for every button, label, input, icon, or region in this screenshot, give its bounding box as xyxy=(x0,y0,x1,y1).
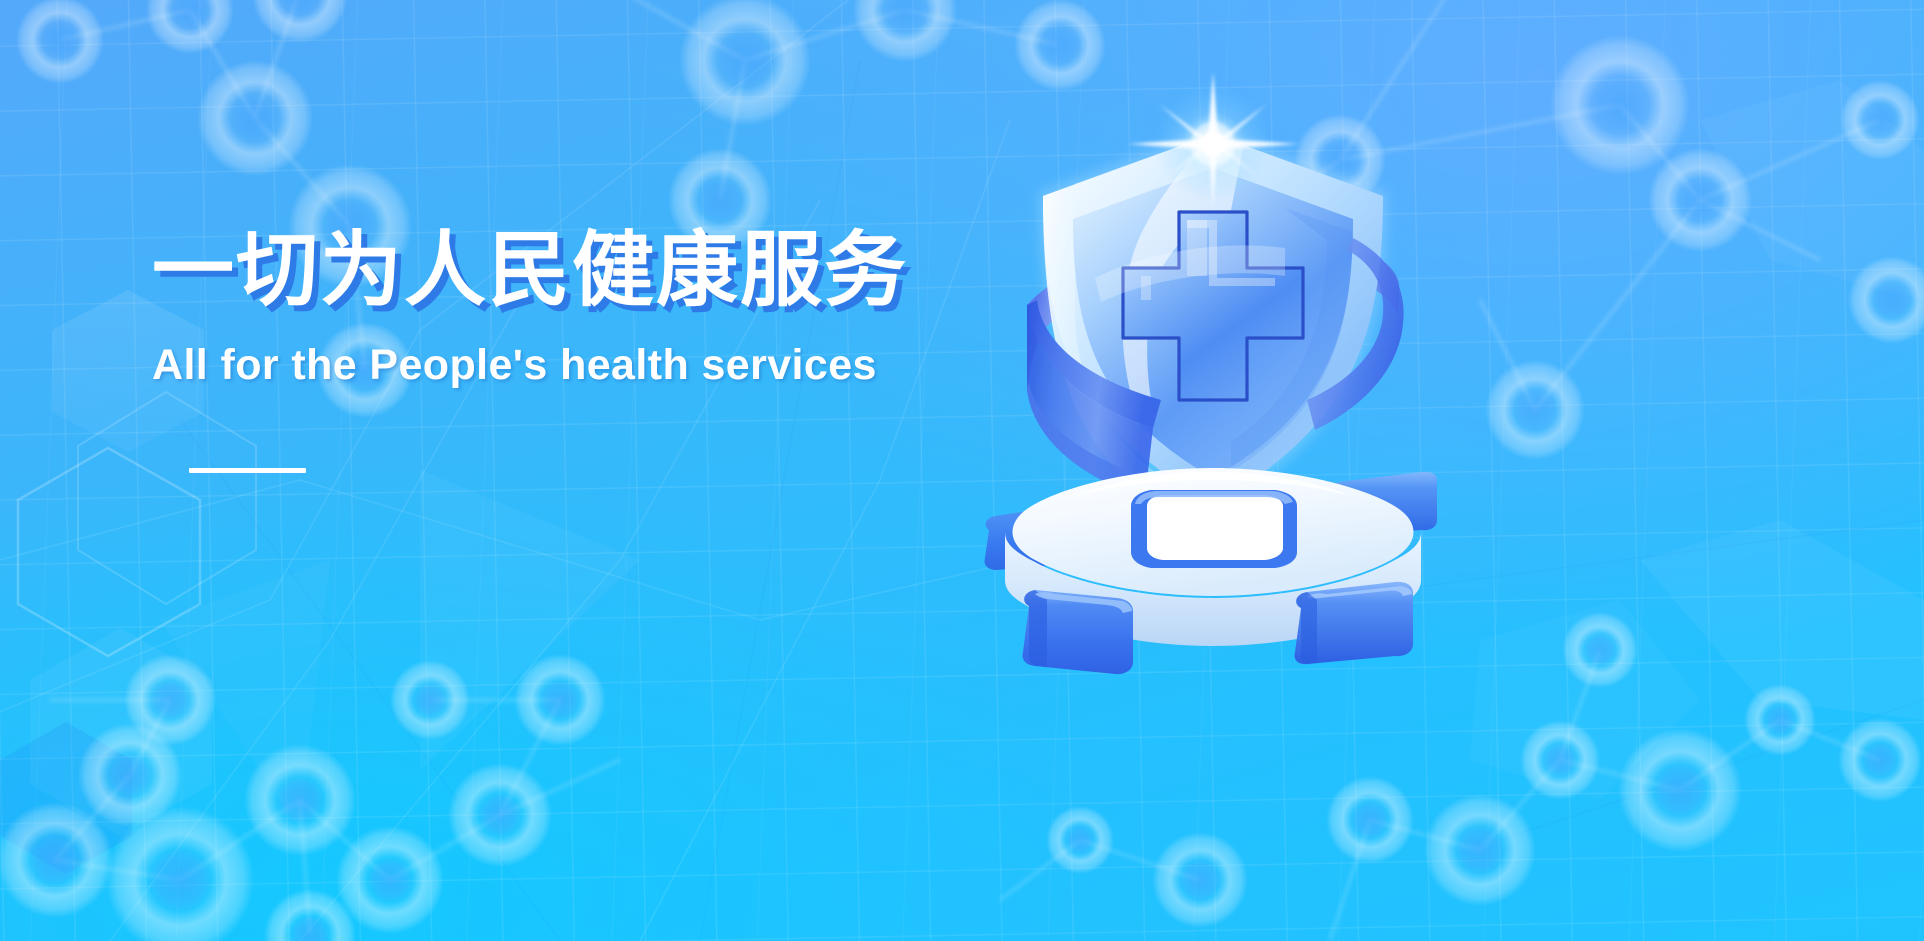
molecule-atom xyxy=(1485,360,1585,460)
molecule-atom xyxy=(1618,728,1742,852)
molecule-atom xyxy=(1152,832,1248,928)
molecule-atom xyxy=(448,763,552,867)
molecule-atom xyxy=(1550,35,1690,175)
molecule-atom xyxy=(197,60,313,176)
molecule-atom xyxy=(514,654,606,746)
hexagon-shape xyxy=(30,628,212,836)
hexagon-outline xyxy=(18,448,200,656)
hexagon-shape-dark xyxy=(0,722,132,874)
molecule-atom xyxy=(1014,0,1106,91)
molecule-atom xyxy=(336,826,444,934)
molecule-atom xyxy=(1848,256,1924,344)
polygon-shape xyxy=(1700,80,1924,300)
molecule-atom xyxy=(679,0,811,126)
health-banner: 一切为人民健康服务 All for the People's health se… xyxy=(0,0,1924,941)
molecule-atom xyxy=(1840,80,1920,160)
molecule-atom xyxy=(0,802,113,918)
molecule-atom xyxy=(146,0,234,54)
pedestal-inner-screen xyxy=(1147,495,1283,560)
molecule-atom xyxy=(1326,776,1414,864)
molecule-atom xyxy=(244,744,356,856)
molecule-atom xyxy=(853,0,957,62)
banner-headline: 一切为人民健康服务 xyxy=(152,228,1052,315)
triangle-shape xyxy=(160,560,330,830)
banner-subtitle: All for the People's health services xyxy=(152,341,1052,390)
triangle-shape xyxy=(420,470,640,770)
title-divider xyxy=(189,468,306,473)
medical-shield-illustration xyxy=(955,100,1475,680)
molecule-atom xyxy=(1838,718,1922,802)
molecule-atom xyxy=(1562,612,1638,688)
banner-text-block: 一切为人民健康服务 All for the People's health se… xyxy=(152,228,1052,473)
molecule-atom xyxy=(1046,806,1114,874)
molecule-atom xyxy=(1744,684,1816,756)
molecule-atom xyxy=(16,0,104,84)
molecule-atom xyxy=(264,889,356,941)
molecule-atom xyxy=(1520,720,1600,800)
molecule-atom xyxy=(1424,794,1536,906)
molecule-atom xyxy=(390,660,470,740)
molecule-atom xyxy=(1648,148,1752,252)
polygon-shape xyxy=(1640,520,1924,720)
molecule-atom xyxy=(252,0,348,43)
molecule-atom xyxy=(78,723,182,827)
polygon-shape xyxy=(1470,600,1700,800)
molecule-atom xyxy=(106,806,254,941)
cross-pedestal xyxy=(985,468,1438,674)
molecule-atom xyxy=(124,654,216,746)
